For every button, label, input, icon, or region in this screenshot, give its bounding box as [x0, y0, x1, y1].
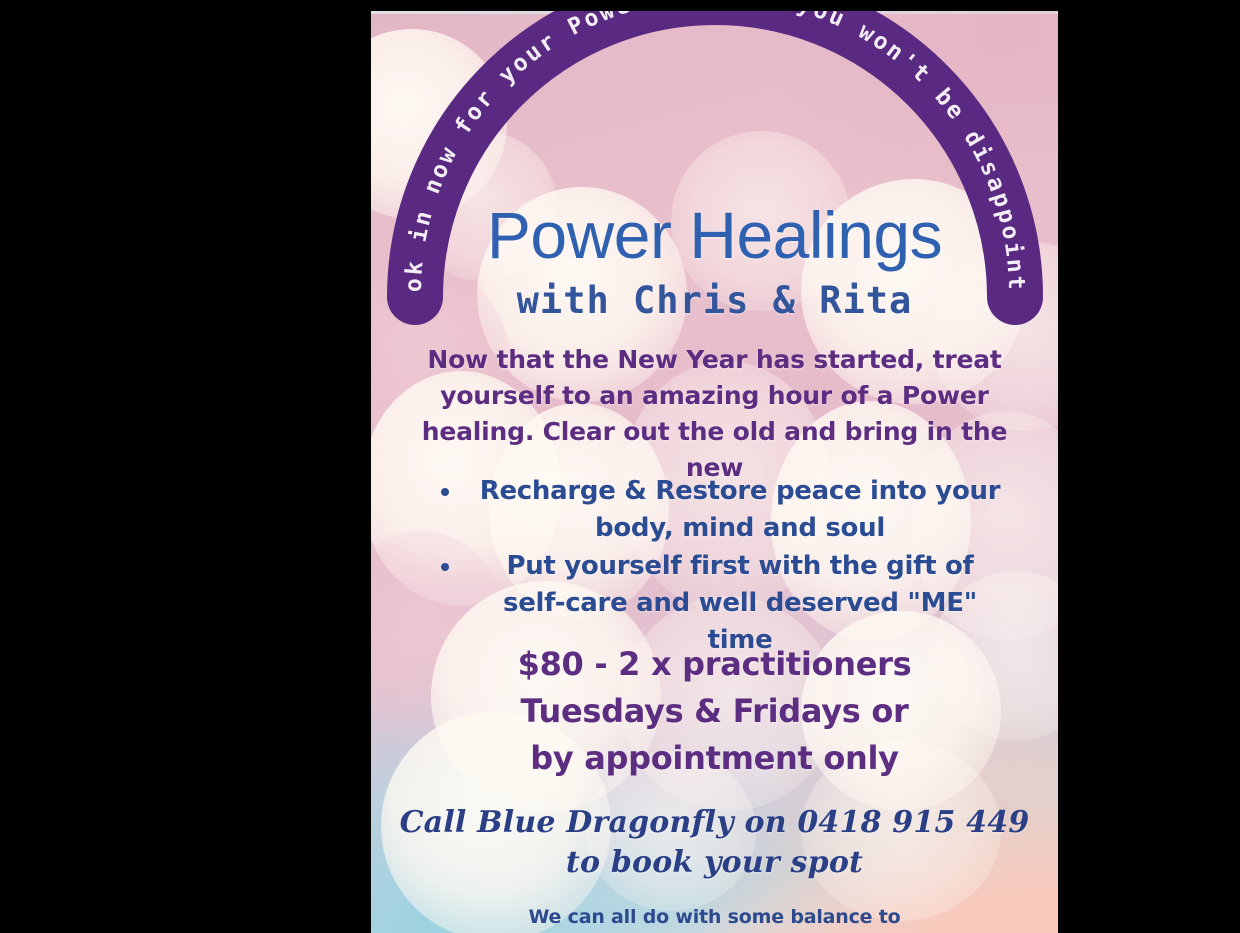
flyer-title: Power Healings: [371, 197, 1058, 273]
bullet-dot-icon: [441, 563, 449, 571]
flyer-content: Power Healings with Chris & Rita Now tha…: [371, 11, 1058, 933]
contact-booking-line: to book your spot: [371, 843, 1058, 883]
flyer-intro-paragraph: Now that the New Year has started, treat…: [411, 342, 1018, 486]
pricing-line-price: $80 - 2 x practitioners: [371, 641, 1058, 688]
contact-phone-line[interactable]: Call Blue Dragonfly on 0418 915 449: [371, 803, 1058, 843]
contact-block[interactable]: Call Blue Dragonfly on 0418 915 449 to b…: [371, 803, 1058, 883]
flyer-subtitle: with Chris & Rita: [371, 279, 1058, 322]
pricing-line-days: Tuesdays & Fridays or: [371, 688, 1058, 735]
closing-line: We can all do with some balance to: [371, 904, 1058, 930]
benefit-text: Recharge & Restore peace into your body,…: [480, 476, 1001, 543]
bullet-dot-icon: [441, 488, 449, 496]
benefits-list: Recharge & Restore peace into your body,…: [417, 473, 1017, 660]
benefit-item: Recharge & Restore peace into your body,…: [417, 473, 1017, 547]
benefit-text: Put yourself first with the gift of self…: [503, 551, 977, 655]
screenshot-stage: Book in now for your Power Healing you w…: [0, 0, 1240, 933]
power-healings-flyer: Book in now for your Power Healing you w…: [371, 11, 1058, 933]
pricing-line-appointment: by appointment only: [371, 735, 1058, 782]
pricing-block: $80 - 2 x practitioners Tuesdays & Frida…: [371, 641, 1058, 782]
